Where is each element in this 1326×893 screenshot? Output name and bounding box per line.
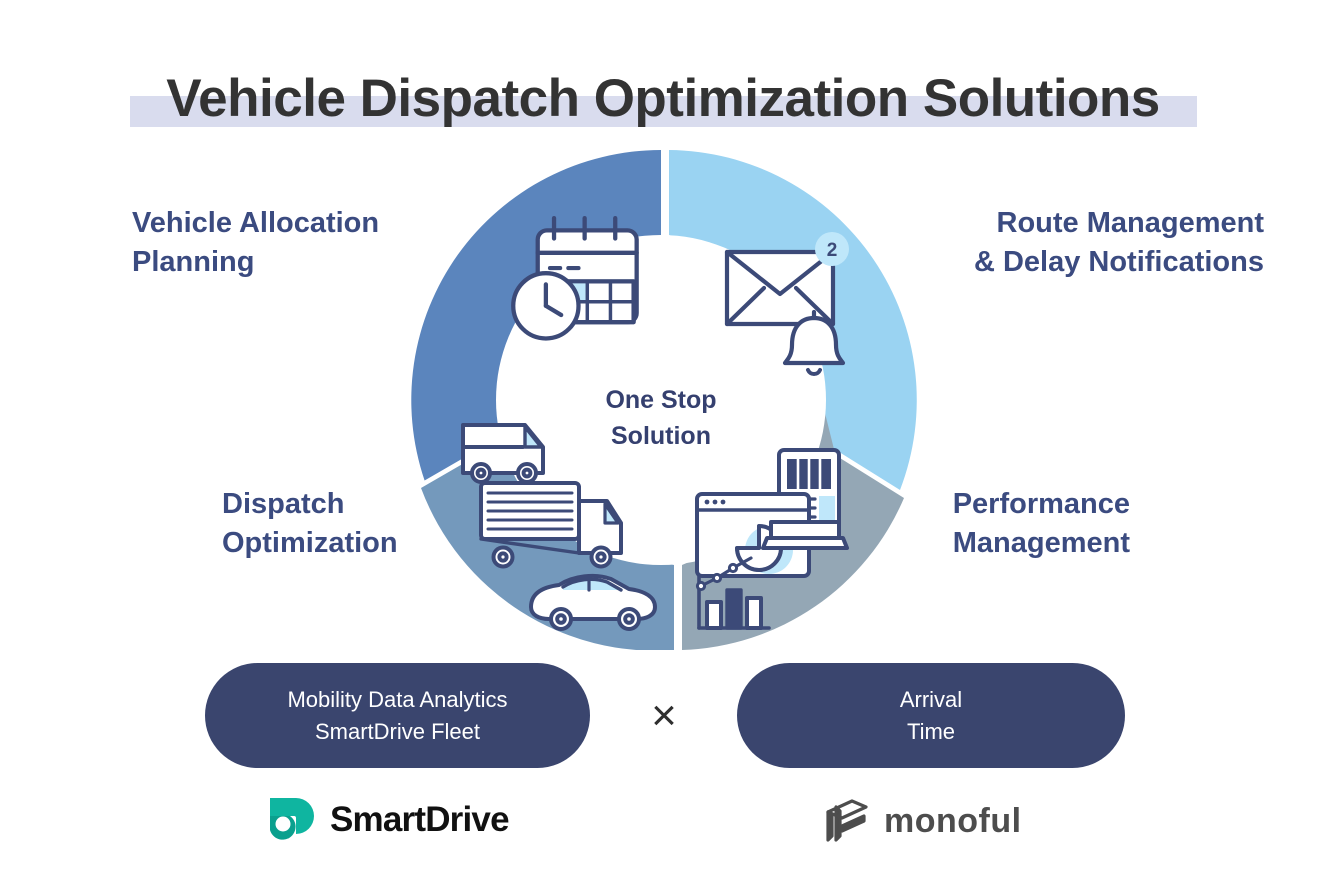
pill-right-line1: Arrival [900, 687, 962, 712]
pill-left-line1: Mobility Data Analytics [287, 687, 507, 712]
partner-pill-arrival-time[interactable]: Arrival Time [737, 663, 1125, 768]
monoful-mark-icon [822, 796, 872, 846]
label-line1: Performance [953, 485, 1130, 524]
infographic-page: { "page": { "title": "Vehicle Dispatch O… [0, 0, 1326, 893]
wheel-svg: 2 [401, 150, 921, 650]
smartdrive-wordmark: SmartDrive [330, 800, 509, 840]
partner-pill-smartdrive-fleet[interactable]: Mobility Data Analytics SmartDrive Fleet [205, 663, 590, 768]
notification-badge-count: 2 [827, 240, 838, 261]
partner-pill-row: Mobility Data Analytics SmartDrive Fleet… [0, 663, 1326, 768]
segment-label-route-management: Route Management & Delay Notifications [974, 204, 1264, 282]
pill-right-line2: Time [900, 716, 962, 748]
smartdrive-mark-icon [266, 794, 318, 846]
monoful-wordmark: monoful [884, 802, 1022, 841]
label-line2: Planning [132, 243, 379, 282]
segment-label-dispatch-optimization: Dispatch Optimization [222, 485, 398, 563]
segment-label-vehicle-allocation-planning: Vehicle Allocation Planning [132, 204, 379, 282]
label-line2: Optimization [222, 524, 398, 563]
label-line2: & Delay Notifications [974, 243, 1264, 282]
smartdrive-logo: SmartDrive [266, 794, 509, 846]
label-line1: Route Management [974, 204, 1264, 243]
monoful-logo: monoful [822, 796, 1022, 846]
van-icon [463, 425, 543, 482]
pill-left-line2: SmartDrive Fleet [287, 716, 507, 748]
label-line1: Vehicle Allocation [132, 204, 379, 243]
solution-wheel: 2 [401, 150, 921, 650]
segment-label-performance-management: Performance Management [953, 485, 1130, 563]
page-title: Vehicle Dispatch Optimization Solutions [0, 70, 1326, 128]
logo-row: SmartDrive monoful [0, 790, 1326, 860]
times-separator-icon: × [632, 663, 696, 768]
title-block: Vehicle Dispatch Optimization Solutions [0, 34, 1326, 130]
label-line1: Dispatch [222, 485, 398, 524]
label-line2: Management [953, 524, 1130, 563]
